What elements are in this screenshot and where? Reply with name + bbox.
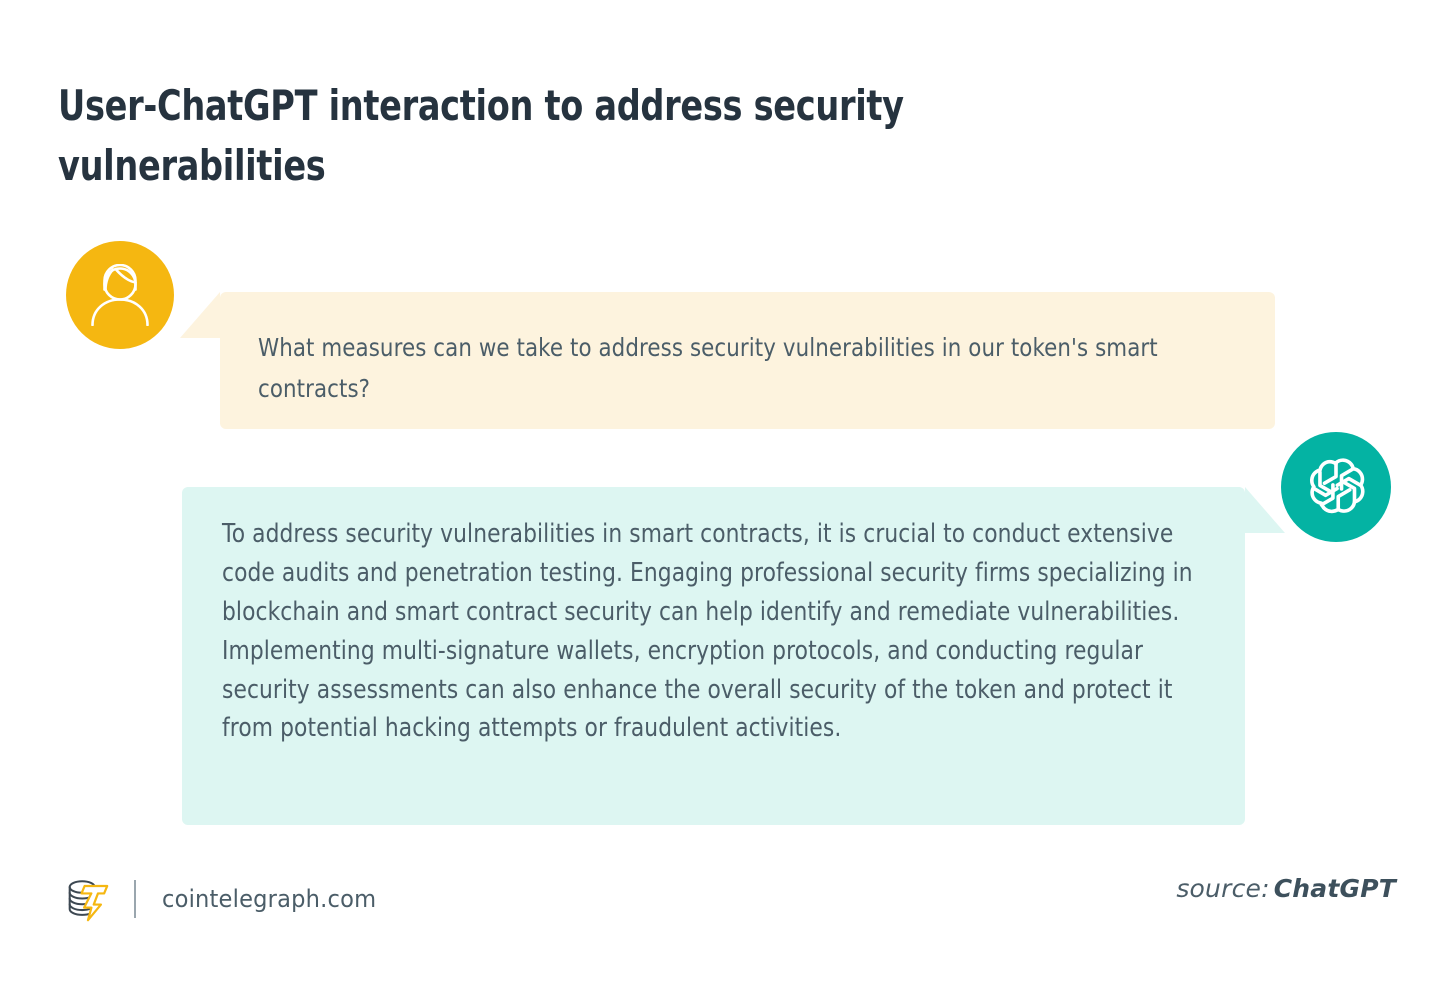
cointelegraph-logo-icon [62, 874, 112, 924]
user-avatar-icon [90, 264, 150, 326]
bubble-tail-user-icon [180, 292, 220, 338]
avatar-user [66, 241, 174, 349]
footer-source-name: ChatGPT [1274, 874, 1396, 903]
avatar-assistant [1281, 432, 1391, 542]
footer-site-label: cointelegraph.com [162, 885, 376, 913]
footer-source: source:ChatGPT [1176, 874, 1396, 903]
message-bubble-assistant: To address security vulnerabilities in s… [182, 487, 1245, 825]
message-text-user: What measures can we take to address sec… [258, 328, 1241, 409]
footer-source-label: source: [1176, 874, 1269, 903]
infographic-page: User-ChatGPT interaction to address secu… [0, 0, 1450, 981]
bubble-tail-assistant-icon [1245, 487, 1285, 533]
message-text-assistant: To address security vulnerabilities in s… [222, 515, 1214, 748]
footer-brand: cointelegraph.com [62, 862, 390, 936]
chatgpt-logo-icon [1302, 453, 1370, 521]
message-bubble-user: What measures can we take to address sec… [220, 292, 1275, 429]
conversation: What measures can we take to address sec… [0, 0, 1450, 860]
footer: cointelegraph.com source:ChatGPT [0, 862, 1450, 942]
footer-divider [134, 880, 136, 918]
